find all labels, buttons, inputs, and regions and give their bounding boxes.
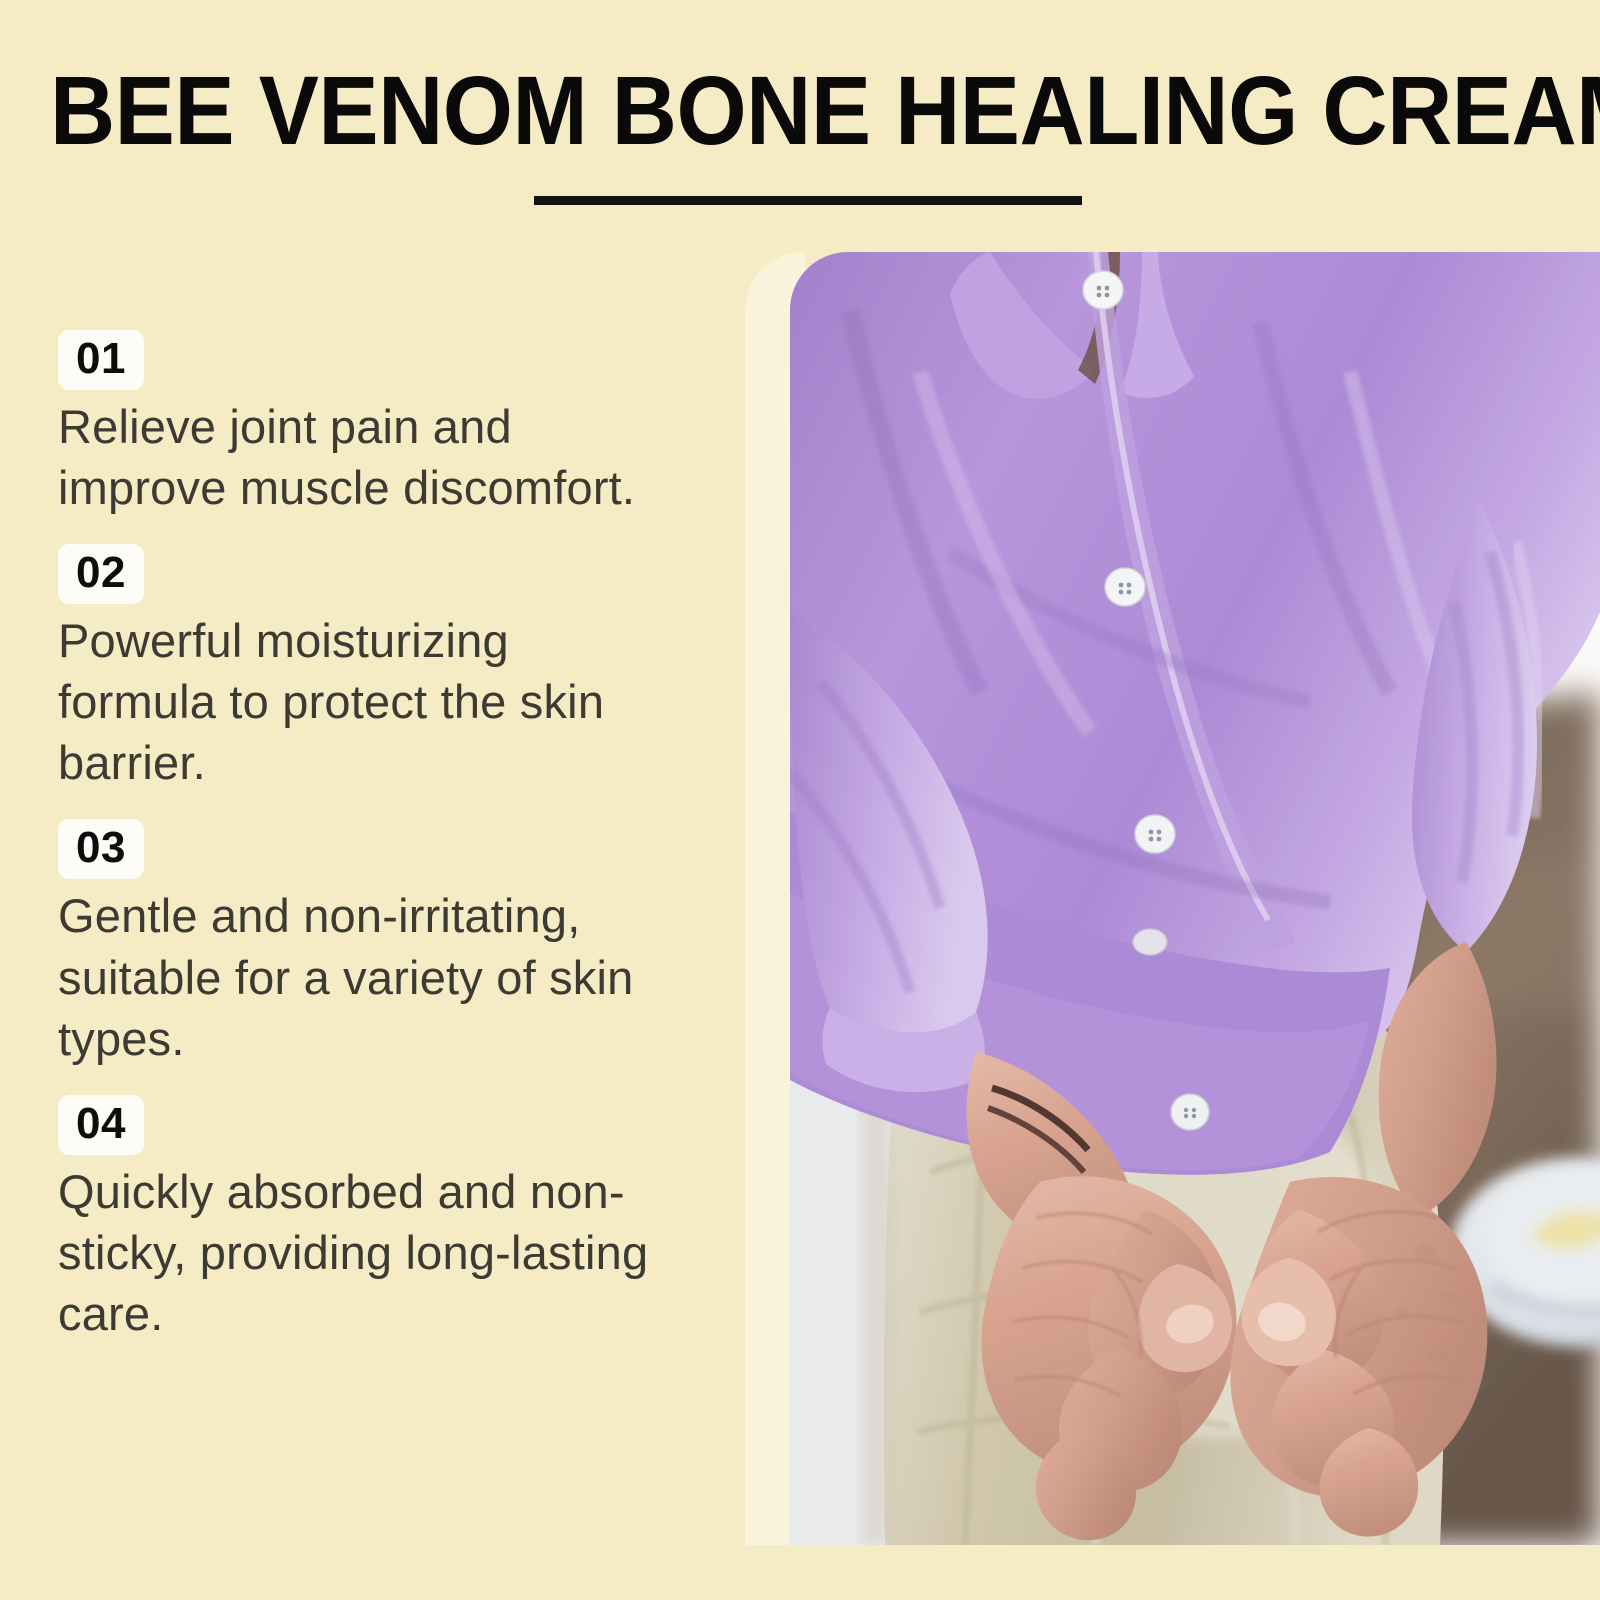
infographic-page: BEE VENOM BONE HEALING CREAM 01 Relieve … [0,0,1600,1600]
feature-description: Quickly absorbed and non-sticky, providi… [58,1161,678,1344]
feature-list: 01 Relieve joint pain and improve muscle… [0,330,740,1370]
title-divider [534,196,1082,205]
feature-description: Powerful moisturizing formula to protect… [58,610,678,793]
feature-number: 03 [76,826,126,870]
feature-description: Relieve joint pain and improve muscle di… [58,396,678,518]
feature-badge-01: 01 [58,330,144,390]
feature-badge-04: 04 [58,1095,144,1155]
page-title: BEE VENOM BONE HEALING CREAM [50,62,1454,159]
feature-number: 01 [76,337,126,381]
feature-badge-02: 02 [58,544,144,604]
feature-number: 04 [76,1102,126,1146]
feature-item-04: 04 Quickly absorbed and non-sticky, prov… [0,1095,740,1344]
feature-description: Gentle and non-irritating, suitable for … [58,885,678,1068]
feature-number: 02 [76,551,126,595]
feature-item-01: 01 Relieve joint pain and improve muscle… [0,330,740,518]
feature-item-02: 02 Powerful moisturizing formula to prot… [0,544,740,793]
header: BEE VENOM BONE HEALING CREAM [0,0,1600,240]
product-photo [790,252,1600,1545]
feature-item-03: 03 Gentle and non-irritating, suitable f… [0,819,740,1068]
feature-badge-03: 03 [58,819,144,879]
